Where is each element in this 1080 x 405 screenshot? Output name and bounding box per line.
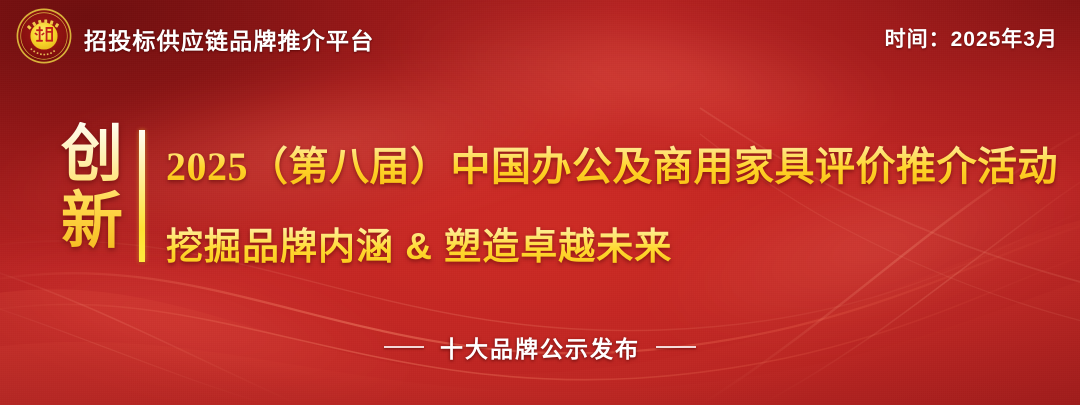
strap-dash-left (384, 346, 424, 348)
promo-banner: 招投标供应链品牌推介平台 时间：2025年3月 创 新 2025（第八届）中国办… (0, 0, 1080, 405)
event-title: 2025（第八届）中国办公及商用家具评价推介活动 (166, 134, 1058, 192)
platform-title: 招投标供应链品牌推介平台 (84, 22, 374, 56)
key-visual-block: 创 新 2025（第八届）中国办公及商用家具评价推介活动 挖掘品牌内涵 & 塑造… (0, 112, 1080, 282)
strap-dash-right (656, 346, 696, 348)
seal-emblem-icon (16, 8, 72, 64)
innovation-mark-char-1: 创 (50, 122, 134, 189)
innovation-mark: 创 新 (50, 122, 134, 256)
banner-header: 招投标供应链品牌推介平台 时间：2025年3月 (0, 0, 1080, 68)
vertical-divider (139, 130, 145, 262)
strap-text: 十大品牌公示发布 (440, 330, 640, 364)
announcement-strap: 十大品牌公示发布 (0, 330, 1080, 364)
event-subtitle: 挖掘品牌内涵 & 塑造卓越未来 (166, 216, 672, 270)
event-date-label: 时间：2025年3月 (885, 23, 1058, 53)
innovation-mark-char-2: 新 (50, 189, 134, 256)
